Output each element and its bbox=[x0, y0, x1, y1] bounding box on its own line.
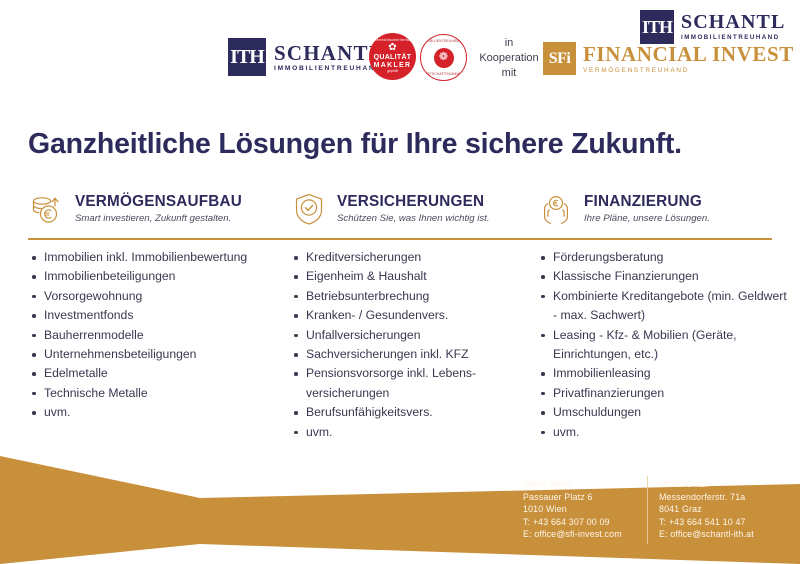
column-vermoegensaufbau: VERMÖGENSAUFBAU Smart investieren, Zukun… bbox=[28, 186, 278, 232]
sfi-financial-invest-logo: SFi FINANCIAL INVEST VERMÖGENSTREUHAND bbox=[543, 42, 794, 75]
hands-holding-coin-icon bbox=[537, 190, 575, 228]
column-header: VERMÖGENSAUFBAU Smart investieren, Zukun… bbox=[28, 186, 278, 232]
ith-monogram-icon: ITH bbox=[228, 38, 266, 76]
column-title-block: FINANZIERUNG Ihre Pläne, unsere Lösungen… bbox=[584, 193, 710, 224]
list-item: Bauherrenmodelle bbox=[28, 326, 247, 345]
ith-monogram-text: ITH bbox=[230, 47, 264, 67]
logo-bar: ITH SCHANTL IMMOBILIENTREUHAND Österreic… bbox=[0, 0, 800, 108]
seal-emblem-icon: ✿ bbox=[388, 43, 396, 53]
office-graz-phone[interactable]: T: +43 664 541 10 47 bbox=[659, 516, 754, 529]
office-wien-street: Passauer Platz 6 bbox=[523, 491, 622, 504]
cooperation-note: in Kooperation mit bbox=[478, 36, 540, 81]
office-graz-street: Messendorferstr. 71a bbox=[659, 491, 754, 504]
sfi-wordmark: FINANCIAL INVEST VERMÖGENSTREUHAND bbox=[583, 43, 794, 73]
list-item: Privatfinanzierungen bbox=[537, 384, 787, 403]
seal-ring-top-text: IMMOBILIENTREUHÄNDER bbox=[420, 39, 466, 43]
ith-wordmark-right: SCHANTL IMMOBILIENTREUHAND bbox=[681, 12, 785, 41]
cooperation-line-2: Kooperation bbox=[478, 51, 540, 66]
qualitaet-makler-seal-icon: ÖsterreichischerVerband ✿ QUALITÄT MAKLE… bbox=[369, 33, 416, 80]
office-wien-block: Office Wien: Passauer Platz 6 1010 Wien … bbox=[523, 478, 622, 541]
list-item: Eigenheim & Haushalt bbox=[290, 267, 528, 286]
service-list: Förderungsberatung Klassische Finanzieru… bbox=[537, 248, 787, 442]
page-headline: Ganzheitliche Lösungen für Ihre sichere … bbox=[28, 128, 682, 161]
cooperation-line-3: mit bbox=[478, 66, 540, 81]
ith-schantl-logo-right: ITH SCHANTL IMMOBILIENTREUHAND bbox=[640, 10, 785, 44]
ith-wordmark: SCHANTL IMMOBILIENTREUHAND bbox=[274, 42, 384, 73]
seal-line-1: QUALITÄT bbox=[374, 54, 412, 61]
list-item: Technische Metalle bbox=[28, 384, 247, 403]
list-item: Immobilienleasing bbox=[537, 364, 787, 383]
ith-brand-name: SCHANTL bbox=[274, 42, 384, 64]
ith-monogram-text-right: ITH bbox=[642, 18, 672, 36]
column-header: FINANZIERUNG Ihre Pläne, unsere Lösungen… bbox=[537, 186, 787, 232]
list-item: Klassische Finanzierungen bbox=[537, 267, 787, 286]
ith-brand-name-right: SCHANTL bbox=[681, 12, 785, 33]
footer-vertical-divider bbox=[647, 476, 648, 544]
office-graz-email[interactable]: E: office@schantl-ith.at bbox=[659, 528, 754, 541]
sfi-brand-subtitle: VERMÖGENSTREUHAND bbox=[583, 67, 794, 74]
list-item: Berufsunfähigkeitsvers. bbox=[290, 403, 528, 422]
sfi-brand-name: FINANCIAL INVEST bbox=[583, 43, 794, 65]
column-title-block: VERSICHERUNGEN Schützen Sie, was Ihnen w… bbox=[337, 193, 490, 224]
column-tagline: Ihre Pläne, unsere Lösungen. bbox=[584, 213, 710, 225]
service-list: Kreditversicherungen Eigenheim & Haushal… bbox=[290, 248, 528, 442]
list-item: Leasing - Kfz- & Mobilien (Geräte, Einri… bbox=[537, 326, 787, 365]
coins-euro-arrow-up-icon bbox=[28, 190, 66, 228]
list-item: Sachversicherungen inkl. KFZ bbox=[290, 345, 528, 364]
column-tagline: Schützen Sie, was Ihnen wichtig ist. bbox=[337, 213, 490, 225]
office-wien-label: Office Wien: bbox=[523, 478, 622, 491]
list-item: Unfallversicherungen bbox=[290, 326, 528, 345]
list-item: uvm. bbox=[28, 403, 247, 422]
list-item: Investmentfonds bbox=[28, 306, 247, 325]
cooperation-line-1: in bbox=[478, 36, 540, 51]
list-item: Kreditversicherungen bbox=[290, 248, 528, 267]
flyer-page: { "brand": { "gold": "#c9903c", "navy": … bbox=[0, 0, 800, 564]
immobilientreuhaender-seal-icon: IMMOBILIENTREUHÄNDER ❁ WIRTSCHAFTSKAMMER bbox=[420, 34, 467, 81]
list-item: Umschuldungen bbox=[537, 403, 787, 422]
seal-ring-bottom-text: WIRTSCHAFTSKAMMER bbox=[423, 72, 465, 76]
service-list: Immobilien inkl. Immobilienbewertung Imm… bbox=[28, 248, 247, 423]
office-graz-block: Office Graz: Messendorferstr. 71a 8041 G… bbox=[659, 478, 754, 541]
column-tagline: Smart investieren, Zukunft gestalten. bbox=[75, 213, 242, 225]
column-finanzierung: FINANZIERUNG Ihre Pläne, unsere Lösungen… bbox=[537, 186, 787, 232]
gold-divider bbox=[28, 238, 772, 240]
seal-crest-icon: ❁ bbox=[434, 48, 454, 68]
column-versicherungen: VERSICHERUNGEN Schützen Sie, was Ihnen w… bbox=[290, 186, 528, 232]
ith-brand-subtitle: IMMOBILIENTREUHAND bbox=[274, 65, 384, 73]
ith-brand-subtitle-right: IMMOBILIENTREUHAND bbox=[681, 34, 785, 41]
column-title: VERMÖGENSAUFBAU bbox=[75, 193, 242, 211]
shield-check-icon bbox=[290, 190, 328, 228]
office-wien-city: 1010 Wien bbox=[523, 503, 622, 516]
list-item: Immobilienbeteiligungen bbox=[28, 267, 247, 286]
office-wien-phone[interactable]: T: +43 664 307 00 09 bbox=[523, 516, 622, 529]
list-item: Kombinierte Kreditangebote (min. Geldwer… bbox=[537, 287, 787, 326]
list-item: Pensionsvorsorge inkl. Lebens-versicheru… bbox=[290, 364, 528, 403]
column-title-block: VERMÖGENSAUFBAU Smart investieren, Zukun… bbox=[75, 193, 242, 224]
column-header: VERSICHERUNGEN Schützen Sie, was Ihnen w… bbox=[290, 186, 528, 232]
list-item: Edelmetalle bbox=[28, 364, 247, 383]
sfi-monogram-icon: SFi bbox=[543, 42, 576, 75]
list-item: Unternehmensbeteiligungen bbox=[28, 345, 247, 364]
seal-line-2: MAKLER bbox=[374, 62, 412, 69]
office-graz-city: 8041 Graz bbox=[659, 503, 754, 516]
office-wien-email[interactable]: E: office@sfi-invest.com bbox=[523, 528, 622, 541]
list-item: Vorsorgewohnung bbox=[28, 287, 247, 306]
column-title: FINANZIERUNG bbox=[584, 193, 710, 211]
ith-schantl-logo-left: ITH SCHANTL IMMOBILIENTREUHAND bbox=[228, 38, 384, 76]
column-title: VERSICHERUNGEN bbox=[337, 193, 490, 211]
list-item: Immobilien inkl. Immobilienbewertung bbox=[28, 248, 247, 267]
list-item: Förderungsberatung bbox=[537, 248, 787, 267]
seal-bottom-line: geprüft bbox=[387, 70, 398, 74]
list-item: Kranken- / Gesundenvers. bbox=[290, 306, 528, 325]
ith-monogram-icon-right: ITH bbox=[640, 10, 674, 44]
list-item: Betriebsunterbrechung bbox=[290, 287, 528, 306]
office-graz-label: Office Graz: bbox=[659, 478, 754, 491]
